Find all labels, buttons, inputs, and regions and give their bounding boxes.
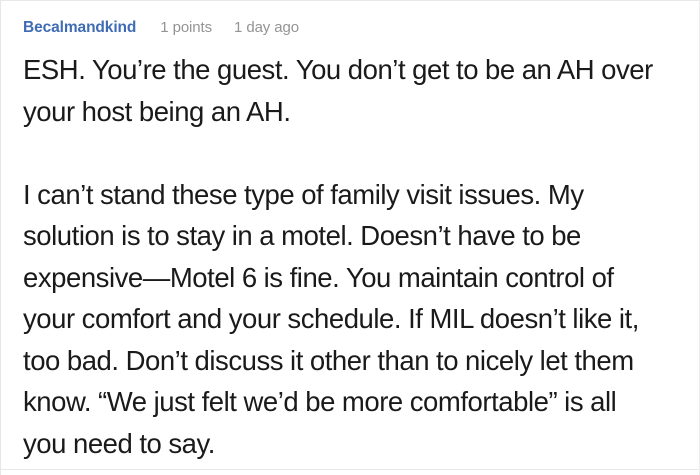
comment-body: ESH. You’re the guest. You don’t get to … [23,49,655,464]
comment-timestamp: 1 day ago [234,19,299,36]
comment-paragraph-1: ESH. You’re the guest. You don’t get to … [23,49,655,132]
comment-author-link[interactable]: Becalmandkind [23,19,136,37]
comment-paragraph-2: I can’t stand these type of family visit… [23,174,655,465]
comment-header: Becalmandkind 1 points 1 day ago [23,19,655,39]
comment-score: 1 points [160,19,212,36]
comment-card: Becalmandkind 1 points 1 day ago ESH. Yo… [0,0,700,475]
paragraph-spacer [23,132,655,174]
